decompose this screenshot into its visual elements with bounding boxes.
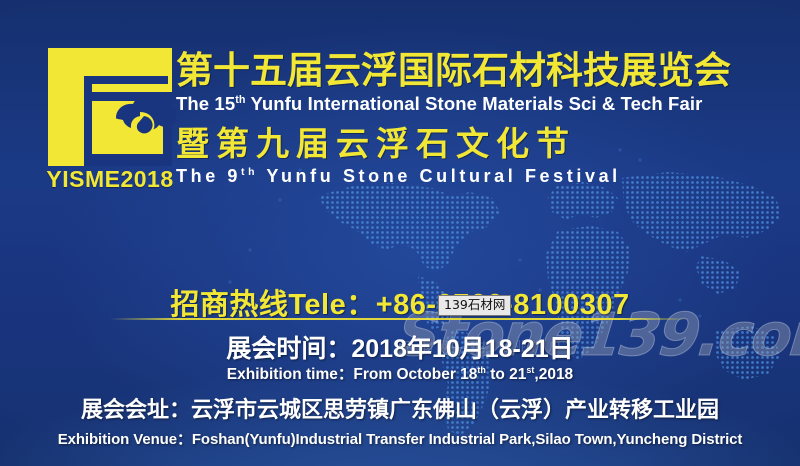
title-en-primary: The 15th Yunfu International Stone Mater… xyxy=(176,93,776,115)
date-en-suffix: ,2018 xyxy=(534,366,573,383)
exhibition-venue-cn: 展会会址：云浮市云城区思劳镇广东佛山（云浮）产业转移工业园 xyxy=(0,392,800,424)
date-en-prefix: Exhibition time：From October 18 xyxy=(227,366,478,383)
exhibition-poster: YISME2018 第十五届云浮国际石材科技展览会 The 15th Yunfu… xyxy=(0,0,800,466)
title-cn-primary: 第十五届云浮国际石材科技展览会 xyxy=(176,50,776,92)
watermark-tooltip-chip[interactable]: 139石材网 xyxy=(438,295,511,316)
divider-rule xyxy=(110,318,690,320)
title-en-primary-suffix: Yunfu International Stone Materials Sci … xyxy=(246,93,703,114)
exhibition-venue-en: Exhibition Venue：Foshan(Yunfu)Industrial… xyxy=(0,428,800,449)
title-en-secondary-suffix: Yunfu Stone Cultural Festival xyxy=(258,166,621,186)
title-en-primary-ordinal: th xyxy=(235,94,245,106)
event-logo: YISME2018 xyxy=(44,46,176,198)
title-en-secondary-ordinal: th xyxy=(241,167,258,178)
exhibition-date-cn: 展会时间：2018年10月18-21日 xyxy=(0,329,800,365)
title-cn-secondary: 暨第九届云浮石文化节 xyxy=(176,124,776,164)
hotline-text: 招商热线Tele：+86-0766-8100307 xyxy=(0,281,800,323)
date-en-mid: to 21 xyxy=(486,366,526,383)
exhibition-date-en: Exhibition time：From October 18th to 21s… xyxy=(0,362,800,384)
title-block: 第十五届云浮国际石材科技展览会 The 15th Yunfu Internati… xyxy=(176,50,776,187)
title-en-secondary-prefix: The 9 xyxy=(176,166,241,186)
yisme-stone-cloud-logo-icon xyxy=(44,46,176,168)
date-en-ordinal-start: th xyxy=(477,365,485,375)
title-en-secondary: The 9th Yunfu Stone Cultural Festival xyxy=(176,165,776,187)
logo-caption: YISME2018 xyxy=(44,166,176,193)
title-en-primary-prefix: The 15 xyxy=(176,93,235,114)
